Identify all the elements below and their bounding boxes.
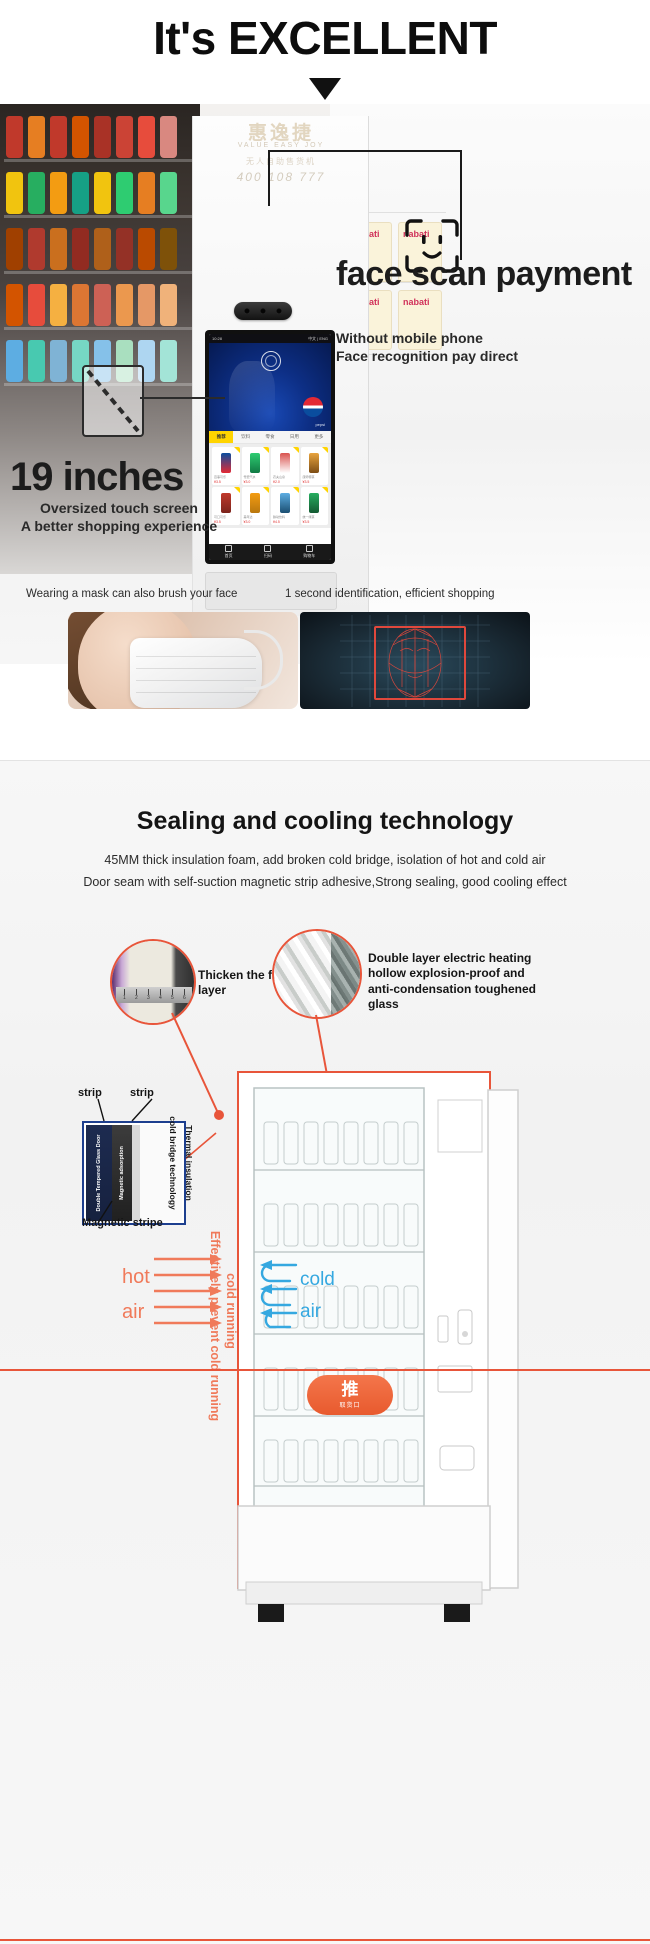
nav-home-label: 首页	[225, 553, 233, 559]
product-name: 农夫山泉	[273, 475, 285, 479]
cold-running-label: cold running	[222, 1231, 240, 1391]
facescan-sub-line2: Face recognition pay direct	[336, 348, 646, 366]
pepsi-logo-icon	[303, 397, 323, 417]
glass-sample-image	[274, 931, 360, 1017]
divider-line-bottom	[0, 1939, 650, 1941]
inches-sub-line1: Oversized touch screen	[4, 500, 234, 518]
product-price: ¥3.5	[214, 480, 221, 484]
product-name: 美年达	[244, 515, 253, 519]
tab-category-2[interactable]: 零食	[258, 431, 282, 443]
push-label-sub: 取货口	[339, 1400, 360, 1409]
inches-title: 19 inches	[10, 455, 183, 500]
product-card[interactable]: 统一绿茶¥3.5	[301, 487, 329, 525]
screen-hero-banner[interactable]: pepsi	[209, 343, 331, 431]
home-icon	[225, 545, 232, 552]
product-price: ¥3.5	[303, 520, 310, 524]
magnetic-stripe-label: Magnetic stripe	[82, 1217, 163, 1229]
product-card[interactable]: 美年达¥3.0	[242, 487, 270, 525]
product-price: ¥4.5	[273, 520, 280, 524]
cold-running-text: cold running	[224, 1273, 238, 1349]
product-name: 康师傅茶	[303, 475, 315, 479]
diagonal-dash-line	[84, 367, 142, 435]
brand-phone: 400 108 777	[196, 170, 366, 184]
facescan-leader-vertical	[460, 150, 462, 260]
status-time: 10:28	[212, 336, 222, 341]
page-title: It's EXCELLENT	[0, 14, 650, 62]
nav-scan-label: 扫码	[264, 553, 272, 559]
tab-category-3[interactable]: 日用	[282, 431, 306, 443]
product-card[interactable]: 雪碧汽水¥3.0	[242, 447, 270, 485]
mask-photo-card	[68, 612, 298, 709]
double-layer-glass-photo	[272, 929, 362, 1019]
push-door-button[interactable]: 推 取货口	[307, 1375, 393, 1415]
vending-machine-line-drawing	[232, 1066, 532, 1666]
hero-brand-label: pepsi	[315, 422, 325, 427]
hot-air-label: air	[122, 1301, 144, 1324]
brand-sub-cn: 无人自助售货机	[196, 156, 366, 167]
inches-sub-line2: A better shopping experience	[4, 518, 234, 536]
status-lang: 中文 | ENG	[308, 336, 328, 342]
nav-cart-label: 购物车	[303, 553, 315, 559]
screen-status-bar: 10:28 中文 | ENG	[209, 334, 331, 343]
cold-label: cold	[300, 1269, 335, 1291]
facescan-leader-horizontal	[268, 150, 462, 152]
nav-scan[interactable]: 扫码	[264, 545, 272, 559]
brand-logo-en: VALUE EASY JOY	[196, 142, 366, 149]
divider-line-top	[0, 1369, 650, 1371]
product-price: ¥3.0	[244, 480, 251, 484]
facescan-title: face scan payment	[336, 258, 646, 291]
surgical-mask-shape	[130, 638, 262, 708]
facescan-sub-line1: Without mobile phone	[336, 330, 646, 348]
tab-category-4[interactable]: 更多	[307, 431, 331, 443]
product-name: 雪碧汽水	[244, 475, 256, 479]
hot-label: hot	[122, 1266, 150, 1289]
facescan-leader-stub	[268, 150, 270, 206]
excellent-feature-section: It's EXCELLENT	[0, 0, 650, 760]
push-label-cn: 推	[342, 1381, 359, 1398]
ruler-icon: 1 2 3 4 5 6	[116, 987, 192, 1003]
product-card[interactable]: 脉动饮料¥4.5	[271, 487, 299, 525]
face-mesh-photo-card	[300, 612, 530, 709]
product-name: 百事可乐	[214, 475, 226, 479]
brand-logo-cn: 惠逸捷	[196, 118, 366, 145]
scan-icon	[264, 545, 271, 552]
tab-category-0[interactable]: 推荐	[209, 431, 233, 443]
tab-category-1[interactable]: 饮料	[233, 431, 257, 443]
product-card[interactable]: 农夫山泉¥2.0	[271, 447, 299, 485]
product-price: ¥3.5	[303, 480, 310, 484]
face-scan-bracket	[374, 626, 466, 700]
cart-icon	[306, 545, 313, 552]
cold-air-label: air	[300, 1301, 321, 1323]
nav-home[interactable]: 首页	[225, 545, 233, 559]
product-name: 统一绿茶	[303, 515, 315, 519]
camera-module	[234, 302, 292, 320]
product-card[interactable]: 百事可乐¥3.5	[212, 447, 240, 485]
facescan-subtitle: Without mobile phone Face recognition pa…	[336, 330, 646, 365]
foam-sample-image	[112, 941, 194, 1023]
screen-diagonal-icon	[82, 365, 144, 437]
mask-ear-loop	[244, 630, 283, 690]
foam-thickness-photo: 1 2 3 4 5 6	[110, 939, 196, 1025]
callout-label-glass: Double layer electric heating hollow exp…	[368, 951, 548, 1012]
nav-cart[interactable]: 购物车	[303, 545, 315, 559]
glass-door-right: nabati nabati nabati nabati	[330, 104, 650, 664]
card-caption-mask: Wearing a mask can also brush your face	[26, 588, 237, 600]
triangle-down-icon	[309, 78, 341, 100]
product-price: ¥2.0	[273, 480, 280, 484]
sealing-desc-line1: 45MM thick insulation foam, add broken c…	[0, 853, 650, 867]
sealing-cooling-section: Sealing and cooling technology 45MM thic…	[0, 760, 650, 1944]
product-card[interactable]: 康师傅茶¥3.5	[301, 447, 329, 485]
product-name: 脉动饮料	[273, 515, 285, 519]
card-caption-identification: 1 second identification, efficient shopp…	[285, 588, 495, 600]
screen-bottom-nav[interactable]: 首页 扫码 购物车	[209, 544, 331, 560]
inches-subtitle: Oversized touch screen A better shopping…	[4, 500, 234, 536]
category-tabs[interactable]: 推荐 饮料 零食 日用 更多	[209, 431, 331, 444]
sealing-title: Sealing and cooling technology	[0, 807, 650, 836]
product-price: ¥3.0	[244, 520, 251, 524]
prevent-text: Effectively prevent cold running	[208, 1231, 222, 1421]
sealing-desc-line2: Door seam with self-suction magnetic str…	[0, 875, 650, 889]
hero-athlete-figure	[229, 361, 275, 431]
screen-size-leader-line	[140, 397, 225, 399]
